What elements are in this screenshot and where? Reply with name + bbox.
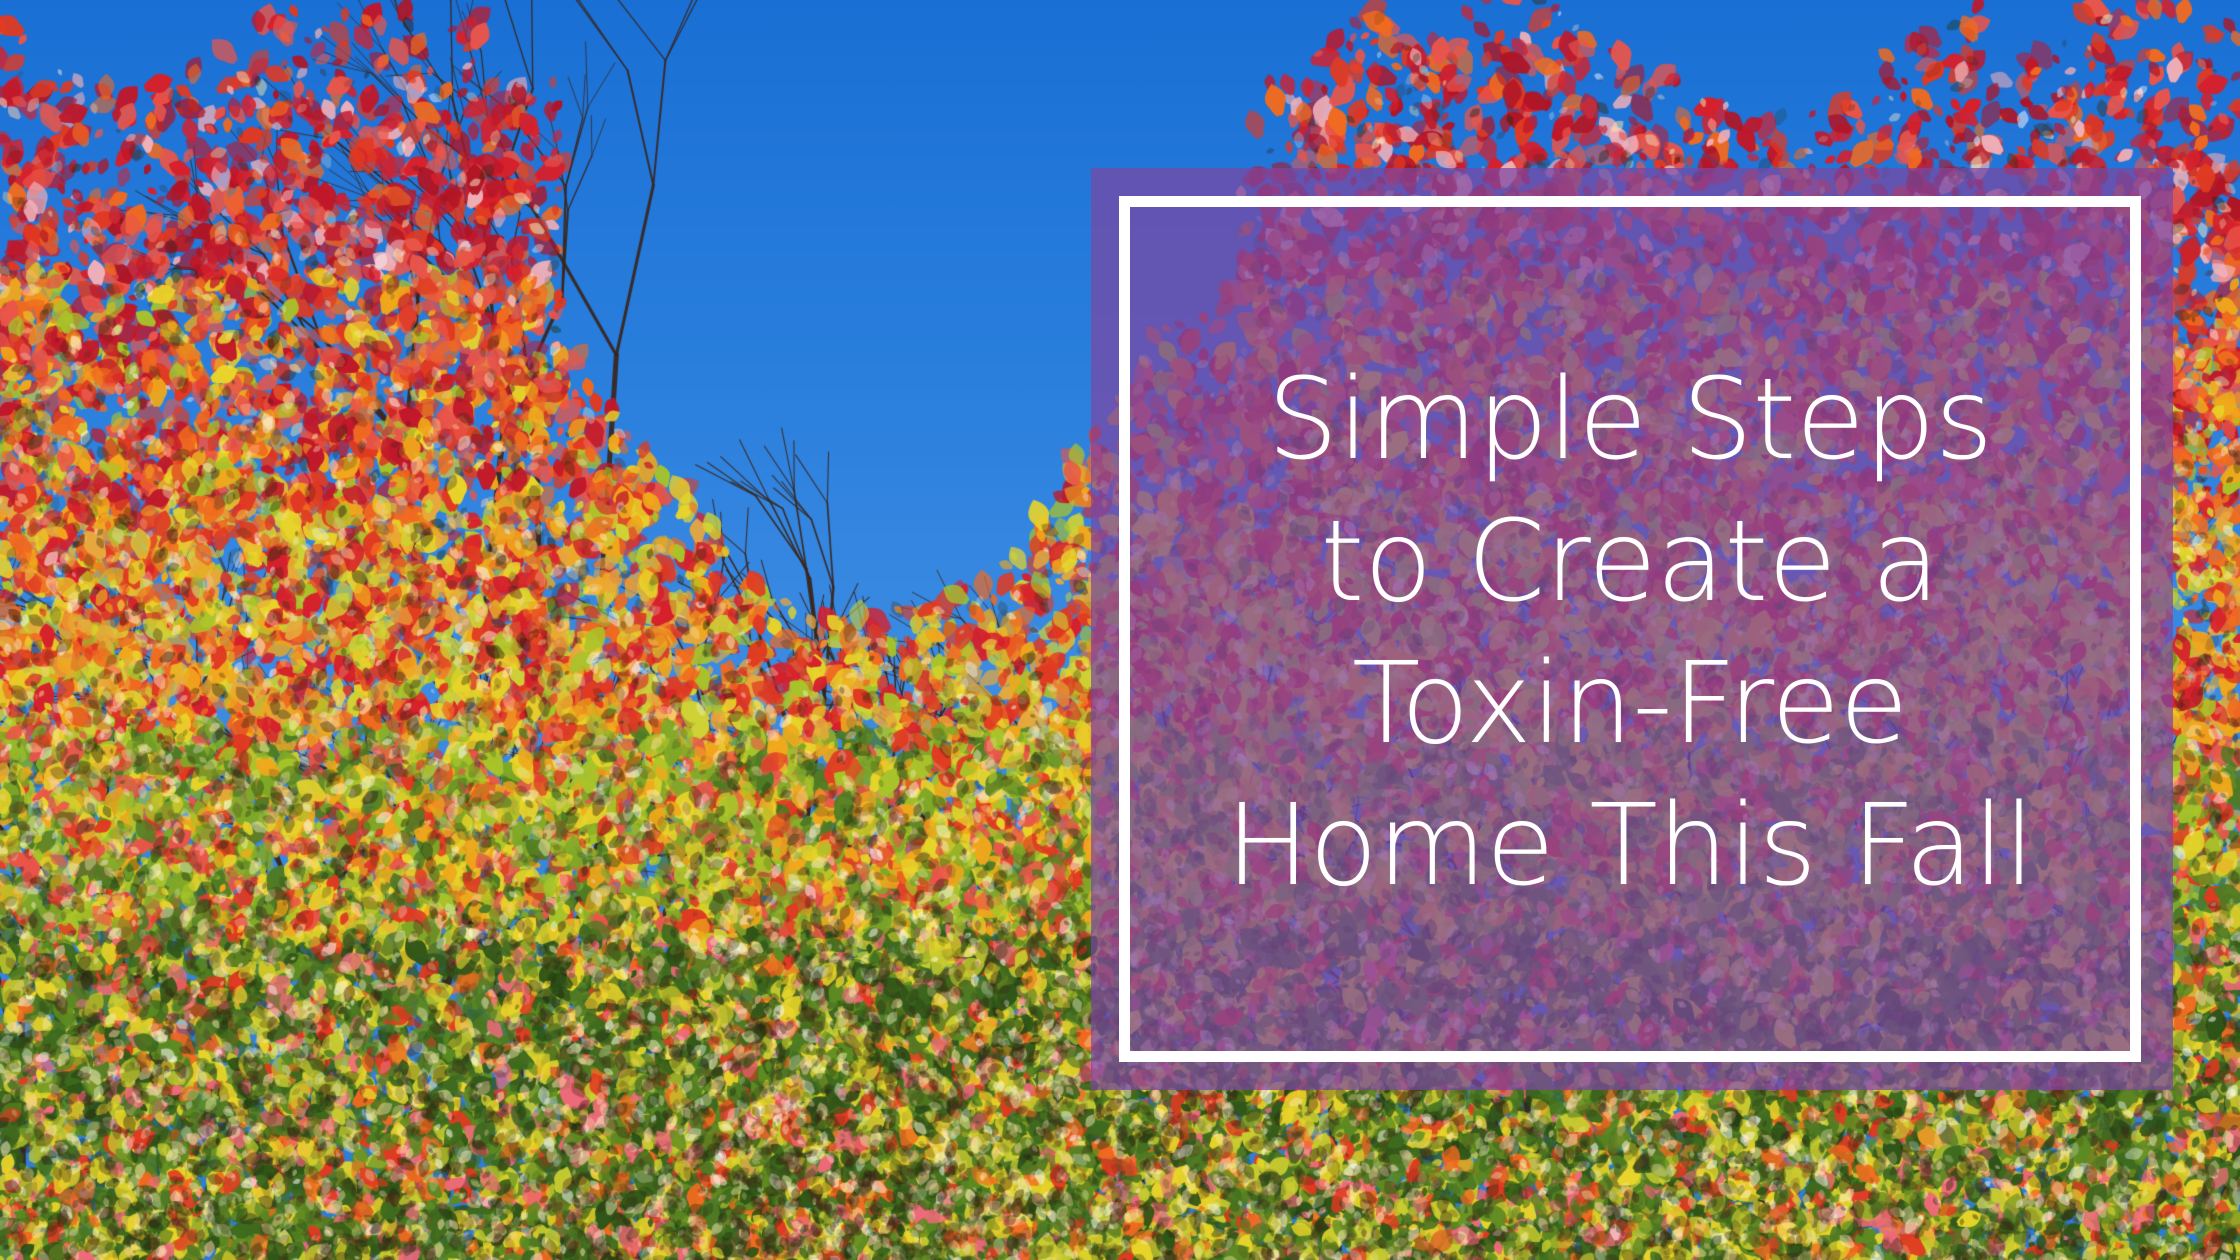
title-line-4: Home This Fall	[1226, 775, 2035, 917]
title-line-1: Simple Steps	[1267, 349, 1992, 491]
title-line-2: to Create a	[1321, 491, 1940, 633]
title-line-3: Toxin-Free	[1352, 633, 1908, 775]
header-graphic: Simple Steps to Create a Toxin-Free Home…	[0, 0, 2240, 1260]
page-title: Simple Steps to Create a Toxin-Free Home…	[1119, 196, 2141, 1062]
